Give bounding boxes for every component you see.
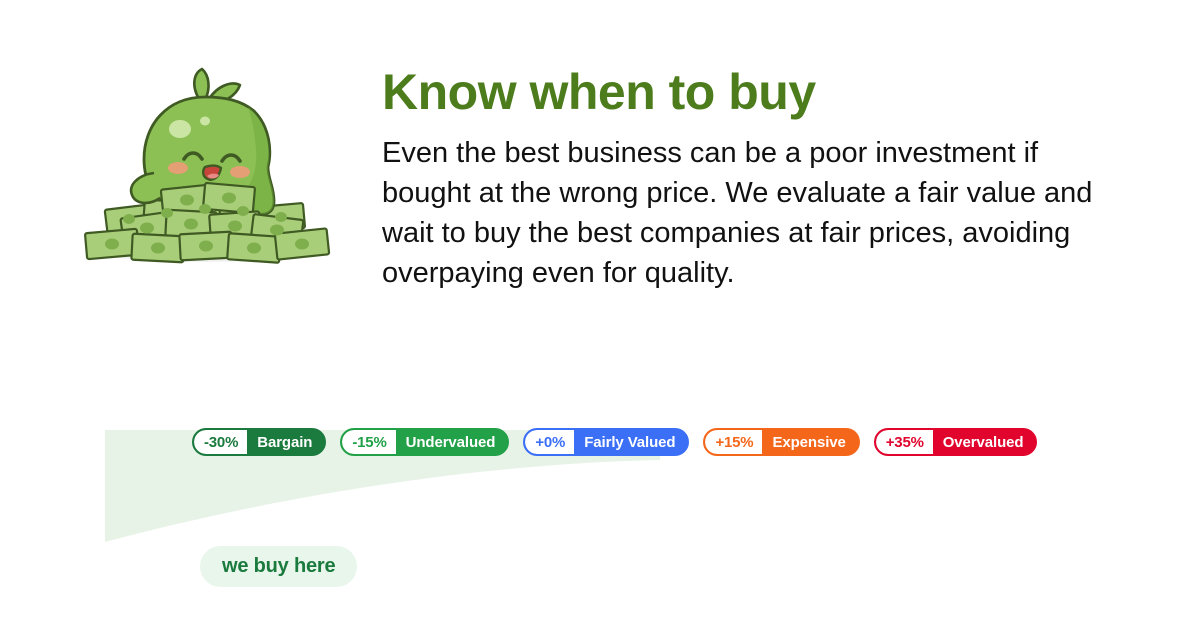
hero-section: Know when to buy Even the best business … bbox=[0, 0, 1200, 340]
valuation-pill-label: Undervalued bbox=[396, 430, 508, 454]
valuation-pill-percent: -30% bbox=[194, 430, 247, 454]
valuation-pill-expensive[interactable]: +15%Expensive bbox=[703, 428, 859, 456]
valuation-pill-bargain[interactable]: -30%Bargain bbox=[192, 428, 326, 456]
hero-text-block: Know when to buy Even the best business … bbox=[382, 66, 1142, 293]
valuation-pill-label: Bargain bbox=[247, 430, 324, 454]
valuation-pill-undervalued[interactable]: -15%Undervalued bbox=[340, 428, 509, 456]
green-blob-mascot-on-money-pile-icon bbox=[62, 55, 352, 275]
valuation-pill-percent: +0% bbox=[525, 430, 574, 454]
hero-description: Even the best business can be a poor inv… bbox=[382, 133, 1132, 293]
we-buy-here-chip: we buy here bbox=[200, 546, 357, 587]
valuation-pill-overvalued[interactable]: +35%Overvalued bbox=[874, 428, 1038, 456]
we-buy-here-label: we buy here bbox=[222, 555, 335, 578]
valuation-backdrop-shape bbox=[0, 430, 1200, 630]
valuation-pill-percent: +15% bbox=[705, 430, 762, 454]
valuation-pill-label: Expensive bbox=[762, 430, 857, 454]
page-title: Know when to buy bbox=[382, 66, 1142, 119]
valuation-pill-percent: +35% bbox=[876, 430, 933, 454]
valuation-pill-fairly-valued[interactable]: +0%Fairly Valued bbox=[523, 428, 689, 456]
valuation-pill-percent: -15% bbox=[342, 430, 395, 454]
valuation-pill-label: Fairly Valued bbox=[574, 430, 687, 454]
valuation-pill-label: Overvalued bbox=[933, 430, 1036, 454]
valuation-scale: -30%Bargain-15%Undervalued+0%Fairly Valu… bbox=[192, 427, 1037, 457]
